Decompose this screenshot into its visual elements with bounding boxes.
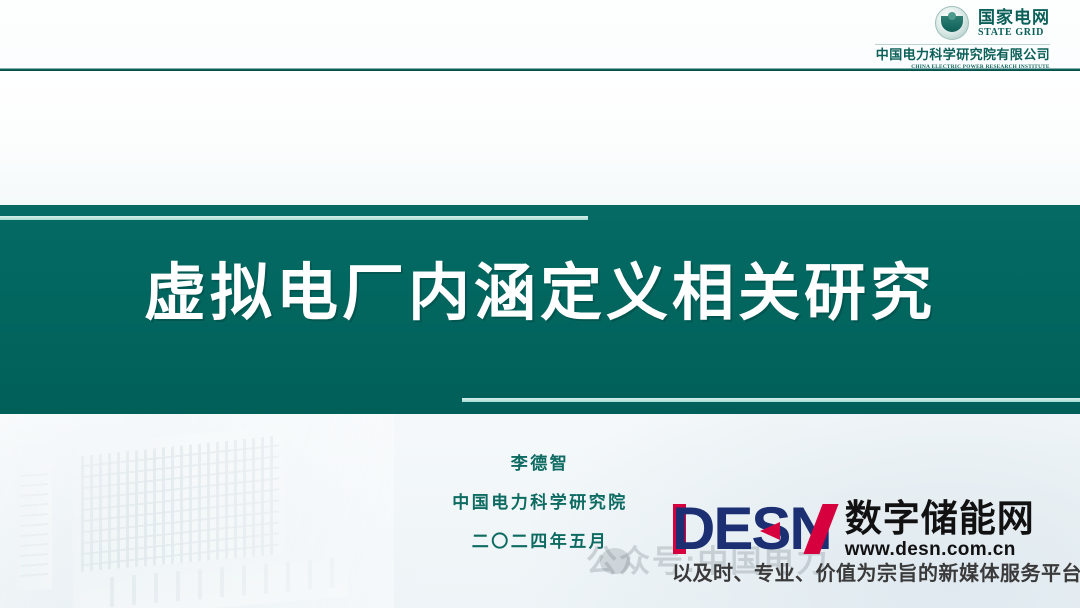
state-grid-logo-block: 国家电网 STATE GRID 中国电力科学研究院有限公司 CHINA ELEC… [875, 6, 1050, 70]
building-watermark [0, 410, 394, 608]
desn-url: www.desn.com.cn [845, 540, 1035, 559]
desn-accent-triangle-icon [760, 522, 780, 540]
desn-text-block: 数字储能网 www.desn.com.cn [845, 500, 1035, 559]
logo-divider [875, 44, 1050, 45]
desn-tagline: 以及时、专业、价值为宗旨的新媒体服务平台 [672, 564, 1072, 584]
background-sheen [0, 71, 1080, 206]
state-grid-emblem-icon [935, 6, 969, 40]
desn-logotype: DESN [672, 500, 831, 558]
desn-watermark: DESN 数字储能网 www.desn.com.cn 以及时、专业、价值为宗旨的… [672, 500, 1072, 584]
state-grid-wordmark: 国家电网 STATE GRID [978, 9, 1050, 38]
brand-name-en: STATE GRID [978, 28, 1050, 38]
building-fade-overlay [0, 410, 394, 608]
desn-logo-row: DESN 数字储能网 www.desn.com.cn [672, 500, 1072, 559]
title-band: 虚拟电厂内涵定义相关研究 [0, 205, 1080, 414]
institute-name-en: CHINA ELECTRIC POWER RESEARCH INSTITUTE [912, 64, 1050, 70]
slide-root: 国家电网 STATE GRID 中国电力科学研究院有限公司 CHINA ELEC… [0, 0, 1080, 608]
desn-name-cn: 数字储能网 [845, 500, 1035, 537]
band-accent-line-top [0, 216, 588, 220]
slide-header: 国家电网 STATE GRID 中国电力科学研究院有限公司 CHINA ELEC… [0, 0, 1080, 71]
author-name: 李德智 [340, 455, 740, 472]
brand-name-cn: 国家电网 [978, 9, 1050, 26]
page-title: 虚拟电厂内涵定义相关研究 [0, 263, 1080, 325]
band-accent-line-bottom [462, 398, 1080, 402]
state-grid-logo: 国家电网 STATE GRID [935, 6, 1050, 40]
institute-name-cn: 中国电力科学研究院有限公司 [876, 48, 1050, 62]
